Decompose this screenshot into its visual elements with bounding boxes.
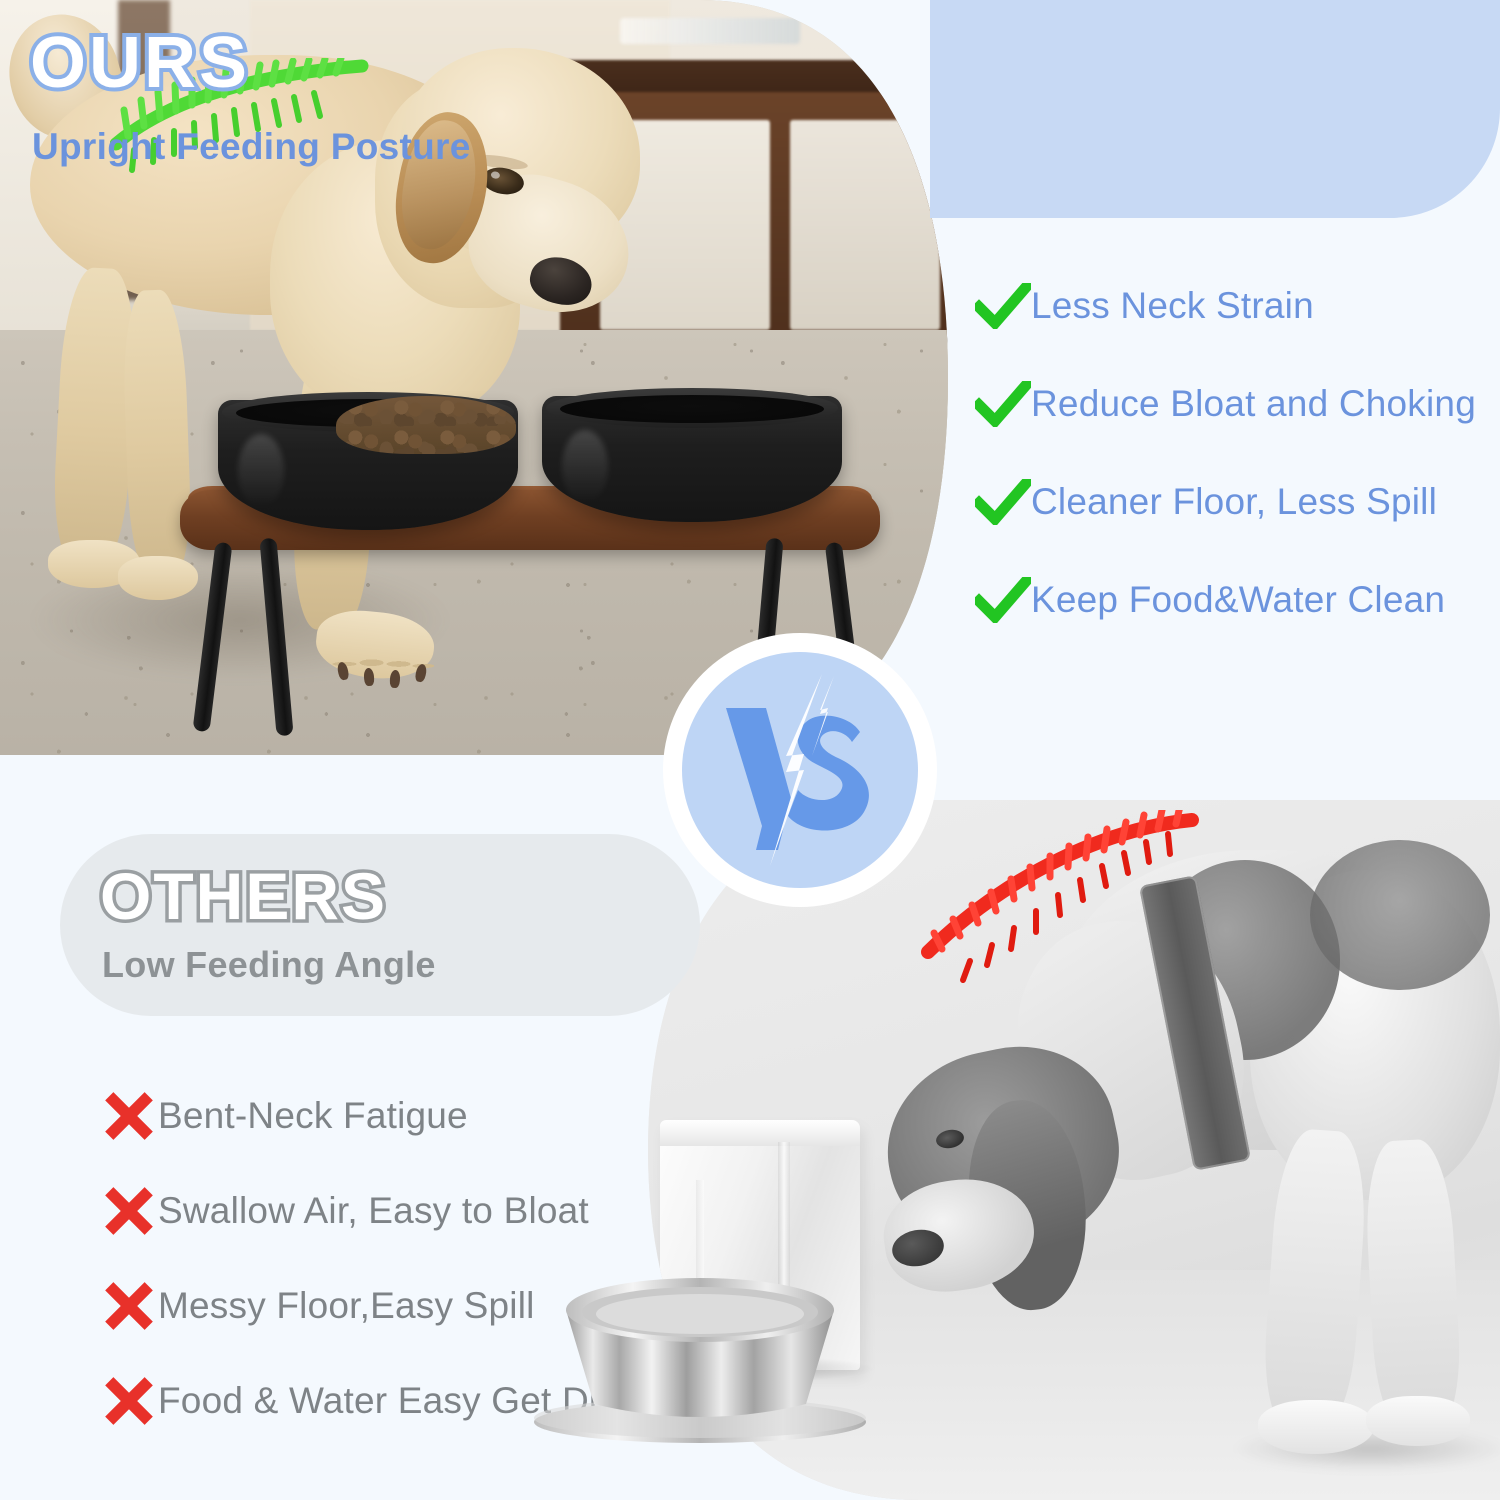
benefit-label: Reduce Bloat and Choking	[1031, 383, 1476, 425]
drawback-label: Messy Floor,Easy Spill	[158, 1285, 535, 1327]
benefit-label: Keep Food&Water Clean	[1031, 579, 1445, 621]
benefits-list: Less Neck Strain Reduce Bloat and Chokin…	[975, 276, 1495, 668]
ours-subtitle: Upright Feeding Posture	[32, 126, 471, 168]
list-item: Less Neck Strain	[975, 276, 1495, 336]
list-item: Keep Food&Water Clean	[975, 570, 1495, 630]
ours-title: OURS	[30, 22, 250, 104]
others-subtitle: Low Feeding Angle	[102, 944, 436, 986]
others-title: OTHERS	[100, 858, 387, 934]
cross-icon	[100, 1182, 158, 1240]
cross-icon	[100, 1277, 158, 1335]
list-item: Bent-Neck Fatigue	[100, 1088, 720, 1144]
check-icon	[975, 381, 1031, 427]
vs-badge	[663, 633, 937, 907]
kibble	[336, 396, 516, 454]
comparison-infographic: OURS Upright Feeding Posture Less Neck S…	[0, 0, 1500, 1500]
cross-icon	[100, 1087, 158, 1145]
list-item: Reduce Bloat and Choking	[975, 374, 1495, 434]
benefit-label: Less Neck Strain	[1031, 285, 1314, 327]
check-icon	[975, 479, 1031, 525]
water-bowl	[542, 396, 842, 522]
list-item: Swallow Air, Easy to Bloat	[100, 1183, 720, 1239]
drawback-label: Bent-Neck Fatigue	[158, 1095, 468, 1137]
list-item: Cleaner Floor, Less Spill	[975, 472, 1495, 532]
cross-icon	[100, 1372, 158, 1430]
check-icon	[975, 283, 1031, 329]
check-icon	[975, 577, 1031, 623]
stainless-steel-floor-bowl	[530, 1270, 870, 1445]
food-bowl	[218, 400, 518, 530]
ours-header-panel	[930, 0, 1500, 218]
benefit-label: Cleaner Floor, Less Spill	[1031, 481, 1437, 523]
vs-logo-icon	[700, 670, 900, 870]
drawback-label: Swallow Air, Easy to Bloat	[158, 1190, 589, 1232]
